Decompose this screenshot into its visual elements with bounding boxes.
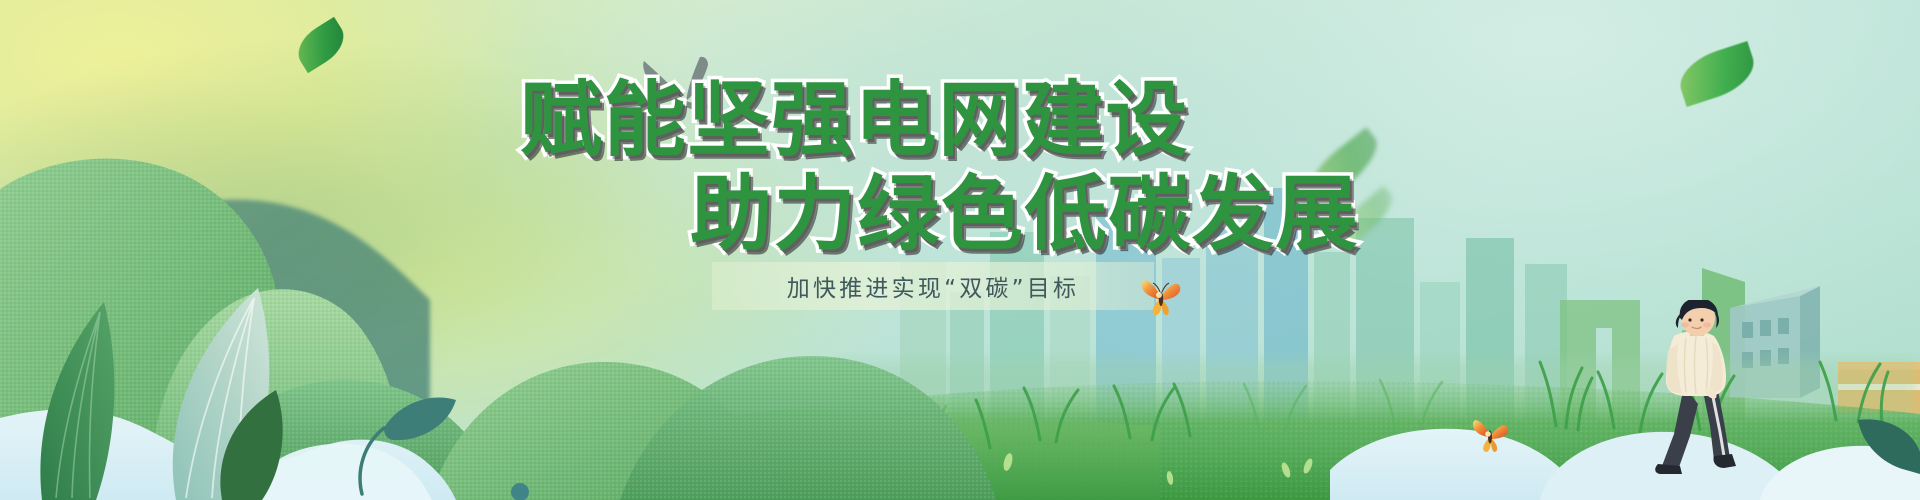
accent-dot [511, 483, 529, 500]
title-block: 赋能坚强电网建设 助力绿色低碳发展 [0, 0, 1920, 500]
leaf-icon [290, 17, 352, 73]
scenery-layer [0, 0, 1920, 500]
bottom-clouds [0, 410, 1920, 500]
grass-flecks [1002, 452, 1314, 485]
distant-teal-slope [0, 200, 430, 500]
butterfly-icon [1140, 275, 1184, 322]
subtitle-text: 加快推进实现“双碳”目标 [712, 262, 1154, 310]
leaf-icon [1673, 41, 1761, 107]
orange-structure [1838, 362, 1920, 428]
foreground-leaves [40, 288, 1920, 500]
swallow-icon [630, 55, 750, 140]
grass-blades-soft [896, 380, 1442, 454]
walking-person-icon [1640, 300, 1760, 480]
sky-background [0, 0, 1920, 500]
leaf-icon [1330, 186, 1400, 251]
green-power-banner: 赋能坚强电网建设 助力绿色低碳发展 加快推进实现“双碳”目标 [0, 0, 1920, 500]
butterfly-icon [1470, 415, 1512, 458]
title-line-2: 助力绿色低碳发展 [690, 172, 1359, 258]
sky-glow-overlay [0, 0, 1920, 500]
center-hills [190, 356, 996, 500]
stem-leaf [360, 398, 456, 494]
left-bushes [0, 159, 401, 500]
title-line-1: 赋能坚强电网建设 [520, 78, 1189, 164]
